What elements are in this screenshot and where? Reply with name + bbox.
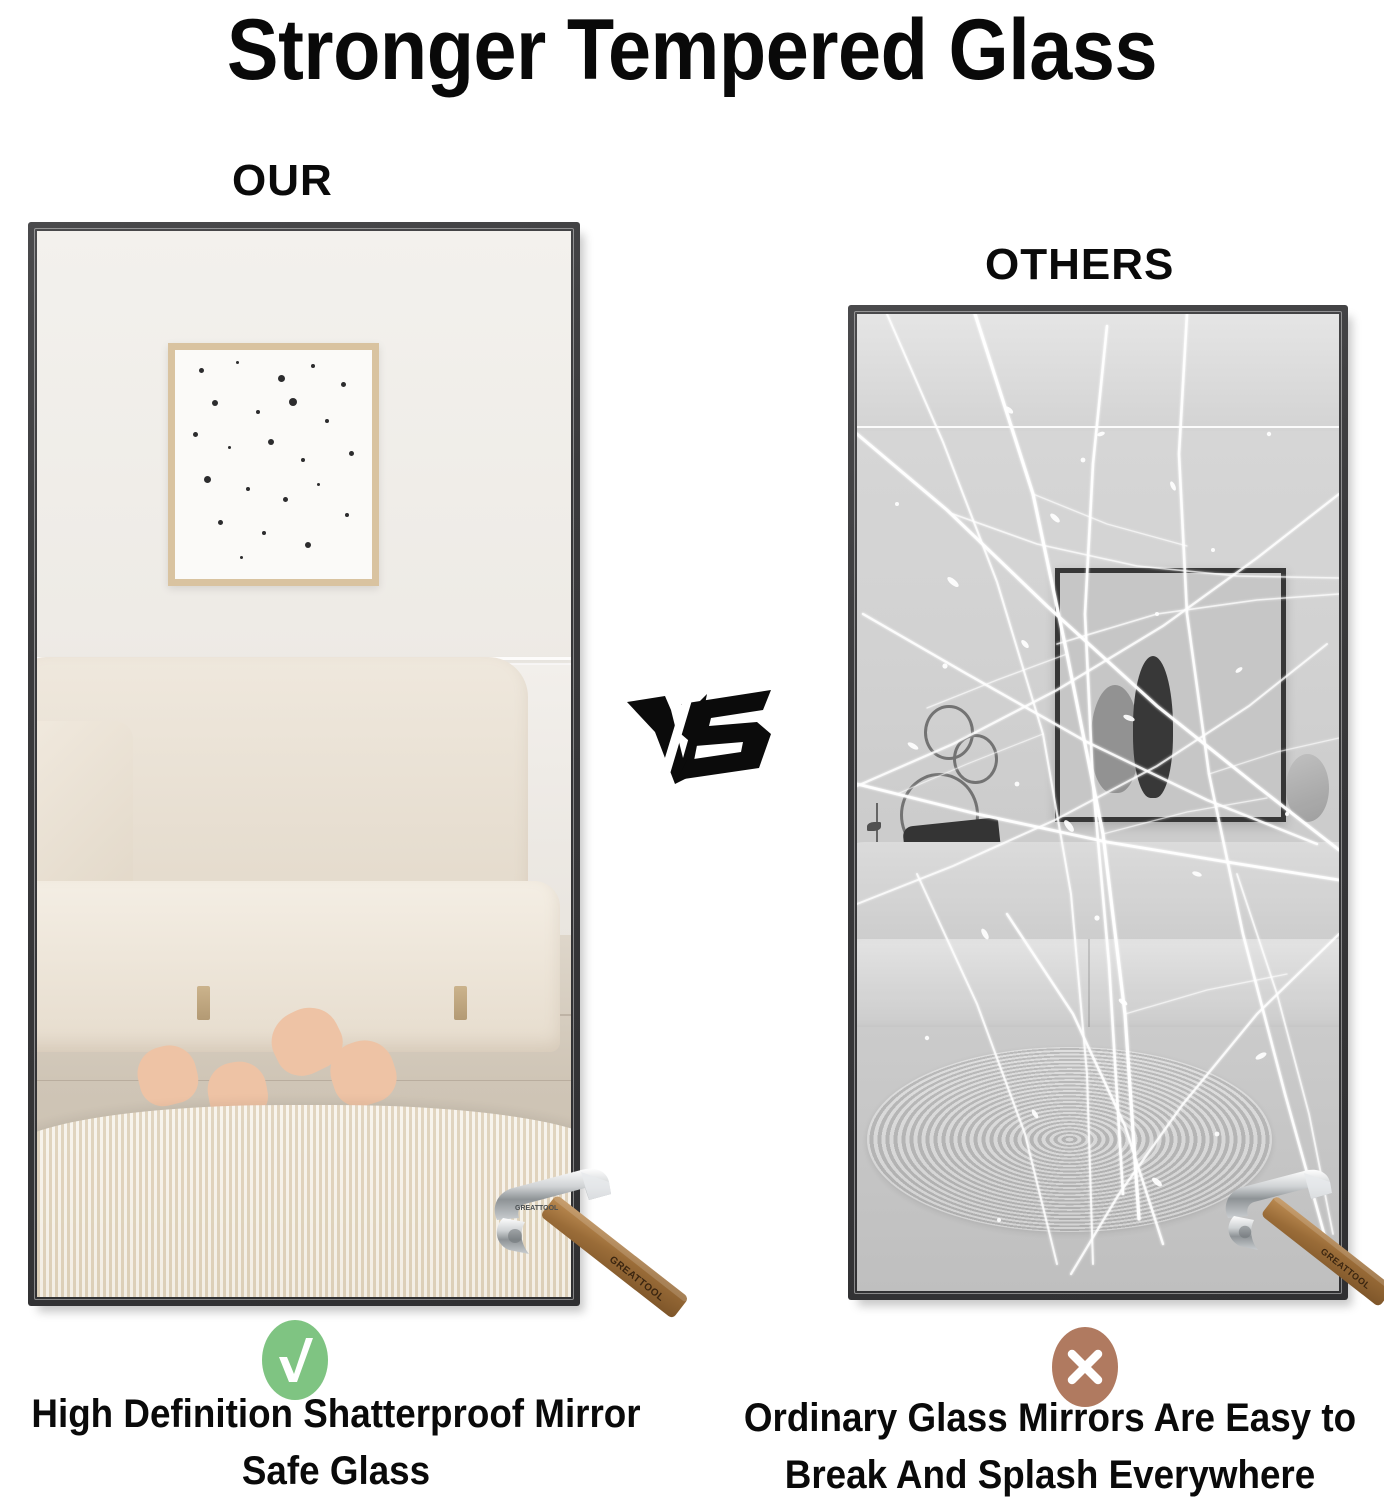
our-mirror-panel (28, 222, 580, 1306)
sofa-leg (454, 986, 467, 1020)
page-title: Stronger Tempered Glass (69, 2, 1315, 98)
versus-logo: VS (625, 680, 775, 790)
our-mirror-glass (37, 231, 571, 1297)
sofa-seam (1088, 939, 1090, 1037)
ceiling (857, 314, 1339, 431)
check-icon (275, 1336, 315, 1384)
plant-leaf (867, 822, 881, 831)
others-column-label: OTHERS (985, 240, 1174, 290)
others-caption-line2: Break And Splash Everywhere (743, 1447, 1358, 1504)
hammer-icon-our: GREATTOOL GREATTOOL (485, 1158, 690, 1338)
wall-artwork (1055, 568, 1287, 822)
our-caption: High Definition Shatterproof Mirror Safe… (27, 1386, 645, 1500)
sofa-leg (197, 986, 210, 1020)
our-column-label: OUR (232, 156, 333, 206)
others-reflected-scene (857, 314, 1339, 1291)
others-caption: Ordinary Glass Mirrors Are Easy to Break… (743, 1390, 1358, 1504)
vase (1286, 754, 1329, 822)
check-badge (262, 1320, 328, 1400)
wall-hoop (953, 734, 998, 784)
floor-rug (867, 1047, 1272, 1233)
others-mirror-panel (848, 305, 1348, 1300)
others-mirror-glass (857, 314, 1339, 1291)
ceiling-line (857, 426, 1339, 428)
our-caption-line1: High Definition Shatterproof Mirror (27, 1386, 645, 1443)
others-caption-line1: Ordinary Glass Mirrors Are Easy to (743, 1390, 1358, 1447)
close-icon (1066, 1348, 1104, 1386)
our-reflected-scene (37, 231, 571, 1297)
svg-text:GREATTOOL: GREATTOOL (515, 1205, 559, 1212)
wall-artwork (168, 343, 380, 586)
sofa-seat (857, 939, 1339, 1037)
our-caption-line2: Safe Glass (27, 1443, 645, 1500)
x-badge (1052, 1327, 1118, 1407)
hammer-icon-others: GREATTOOL (1218, 1160, 1384, 1336)
